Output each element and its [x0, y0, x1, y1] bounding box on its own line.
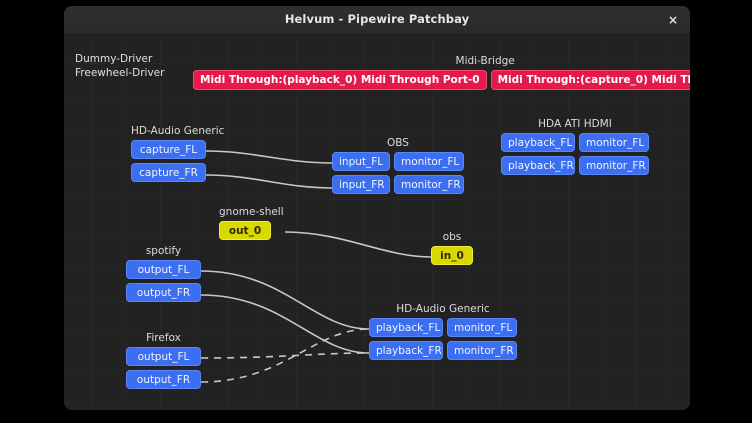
node-title-hd-audio-playback: HD-Audio Generic: [369, 303, 517, 315]
link-spotify-fr-playback-fr: [201, 295, 369, 353]
port-capture-fl[interactable]: capture_FL: [131, 140, 206, 159]
close-icon[interactable]: ×: [664, 11, 682, 29]
port-firefox-output-fl[interactable]: output_FL: [126, 347, 201, 366]
node-hd-audio-generic-capture[interactable]: HD-Audio Generic capture_FL capture_FR: [131, 125, 224, 186]
node-hda-ati-hdmi[interactable]: HDA ATI HDMI playback_FL monitor_FL play…: [501, 118, 649, 179]
node-spotify[interactable]: spotify output_FL output_FR: [126, 245, 201, 306]
driver-dummy: Dummy-Driver: [75, 52, 164, 66]
node-hd-audio-generic-playback[interactable]: HD-Audio Generic playback_FL monitor_FL …: [369, 303, 517, 364]
link-capture-fr-input-fr: [206, 175, 332, 188]
port-firefox-output-fr[interactable]: output_FR: [126, 370, 201, 389]
link-spotify-fl-playback-fl: [201, 271, 369, 329]
node-obs[interactable]: OBS input_FL monitor_FL input_FR monitor…: [332, 137, 464, 198]
helvum-window: Helvum - Pipewire Patchbay × Dummy-Driv: [64, 6, 690, 410]
node-title-gnome-shell: gnome-shell: [219, 206, 284, 218]
port-hda-monitor-fr[interactable]: monitor_FR: [447, 341, 517, 360]
driver-freewheel: Freewheel-Driver: [75, 66, 164, 80]
link-firefox-fl-playback-fr: [201, 353, 369, 358]
port-hdmi-monitor-fl[interactable]: monitor_FL: [579, 133, 649, 152]
node-title-midi-bridge: Midi-Bridge: [193, 55, 690, 67]
link-capture-fl-input-fl: [206, 151, 332, 163]
port-midi-playback-0[interactable]: Midi Through:(playback_0) Midi Through P…: [193, 70, 487, 90]
port-obs-monitor-fr[interactable]: monitor_FR: [394, 175, 464, 194]
port-hda-playback-fl[interactable]: playback_FL: [369, 318, 443, 337]
port-hda-playback-fr[interactable]: playback_FR: [369, 341, 443, 360]
port-spotify-output-fr[interactable]: output_FR: [126, 283, 201, 302]
title-bar[interactable]: Helvum - Pipewire Patchbay ×: [64, 6, 690, 34]
port-obs-monitor-fl[interactable]: monitor_FL: [394, 152, 464, 171]
node-midi-bridge[interactable]: Midi-Bridge Midi Through:(playback_0) Mi…: [193, 55, 690, 94]
node-title-hda-ati-hdmi: HDA ATI HDMI: [501, 118, 649, 130]
driver-list: Dummy-Driver Freewheel-Driver: [75, 52, 164, 80]
port-hdmi-playback-fr[interactable]: playback_FR: [501, 156, 575, 175]
window-title: Helvum - Pipewire Patchbay: [64, 6, 690, 33]
port-obs-input-fl[interactable]: input_FL: [332, 152, 390, 171]
port-obs-in-0[interactable]: in_0: [431, 246, 473, 265]
port-gnome-out-0[interactable]: out_0: [219, 221, 271, 240]
node-obs-in[interactable]: obs in_0: [431, 231, 473, 269]
node-title-obs: OBS: [332, 137, 464, 149]
link-gnome-out0-obs-in0: [285, 232, 431, 257]
patchbay-canvas[interactable]: Dummy-Driver Freewheel-Driver Midi-Bridg…: [64, 33, 690, 410]
screen: Helvum - Pipewire Patchbay × Dummy-Driv: [0, 0, 752, 423]
port-midi-capture-0[interactable]: Midi Through:(capture_0) Midi Through Po…: [491, 70, 690, 90]
port-spotify-output-fl[interactable]: output_FL: [126, 260, 201, 279]
node-firefox[interactable]: Firefox output_FL output_FR: [126, 332, 201, 393]
node-title-firefox: Firefox: [126, 332, 201, 344]
node-title-hd-audio-capture: HD-Audio Generic: [131, 125, 224, 137]
node-title-spotify: spotify: [126, 245, 201, 257]
node-gnome-shell[interactable]: gnome-shell out_0: [219, 206, 284, 244]
port-hda-monitor-fl[interactable]: monitor_FL: [447, 318, 517, 337]
port-hdmi-playback-fl[interactable]: playback_FL: [501, 133, 575, 152]
port-obs-input-fr[interactable]: input_FR: [332, 175, 390, 194]
port-capture-fr[interactable]: capture_FR: [131, 163, 206, 182]
port-hdmi-monitor-fr[interactable]: monitor_FR: [579, 156, 649, 175]
node-title-obs-in: obs: [431, 231, 473, 243]
